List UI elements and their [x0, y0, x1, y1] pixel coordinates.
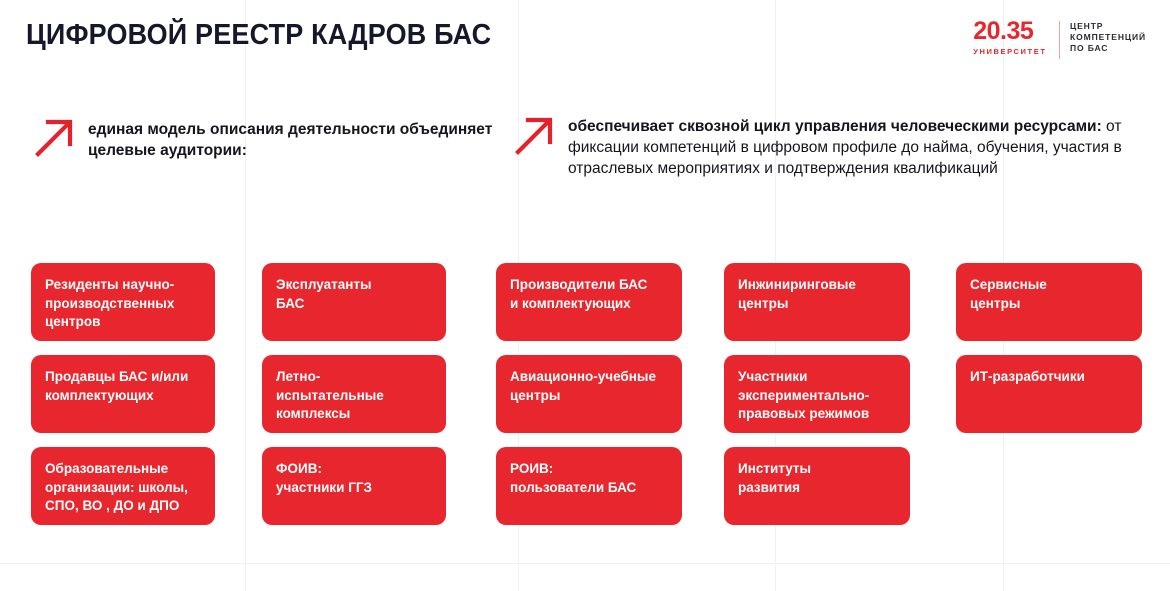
audience-card-grid: Резиденты научно- производственных центр… [0, 0, 1170, 591]
logo-center-line-2: КОМПЕТЕНЦИЙ [1070, 32, 1146, 43]
logo-university-label: УНИВЕРСИТЕТ [973, 47, 1046, 56]
arrow-up-right-icon [514, 112, 558, 156]
audience-card-development-institutes[interactable]: Институты развития [724, 447, 910, 525]
audience-card-residents-npc[interactable]: Резиденты научно- производственных центр… [31, 263, 215, 341]
audience-card-label: Производители БАС и комплектующих [510, 276, 668, 313]
audience-card-label: Институты развития [738, 460, 896, 497]
logo-center-line-1: ЦЕНТР [1070, 21, 1146, 32]
audience-card-label: Участники экспериментально- правовых реж… [738, 368, 896, 424]
intro-block-right: обеспечивает сквозной цикл управления че… [514, 110, 1154, 179]
audience-card-operators-bas[interactable]: Эксплуатанты БАС [262, 263, 446, 341]
brand-logo: 20.35 УНИВЕРСИТЕТ ЦЕНТР КОМПЕТЕНЦИЙ ПО Б… [973, 19, 1146, 59]
audience-card-label: Резиденты научно- производственных центр… [45, 276, 201, 332]
audience-card-flight-test-complex[interactable]: Летно- испытательные комплексы [262, 355, 446, 433]
audience-card-aviation-training[interactable]: Авиационно-учебные центры [496, 355, 682, 433]
grid-line-vertical [245, 0, 246, 591]
audience-card-label: Образовательные организации: школы, СПО,… [45, 460, 201, 516]
audience-card-label: Продавцы БАС и/или комплектующих [45, 368, 201, 405]
intro-left-text: единая модель описания деятельности объе… [88, 112, 494, 161]
audience-card-label: Сервисные центры [970, 276, 1128, 313]
audience-card-label: ИТ-разработчики [970, 368, 1128, 387]
audience-card-sellers-bas[interactable]: Продавцы БАС и/или комплектующих [31, 355, 215, 433]
audience-card-roiv-users-bas[interactable]: РОИВ: пользователи БАС [496, 447, 682, 525]
audience-card-label: Авиационно-учебные центры [510, 368, 668, 405]
audience-card-educational-orgs[interactable]: Образовательные организации: школы, СПО,… [31, 447, 215, 525]
intro-block-left: единая модель описания деятельности объе… [34, 112, 494, 161]
logo-number: 20.35 [973, 19, 1046, 44]
audience-card-engineering-centers[interactable]: Инжиниринговые центры [724, 263, 910, 341]
logo-university-block: 20.35 УНИВЕРСИТЕТ [973, 19, 1048, 56]
intro-right-lead: обеспечивает сквозной цикл управления че… [568, 118, 1102, 135]
audience-card-service-centers[interactable]: Сервисные центры [956, 263, 1142, 341]
logo-center-line-3: ПО БАС [1070, 43, 1146, 54]
arrow-up-right-icon [34, 114, 78, 158]
slide-header: ЦИФРОВОЙ РЕЕСТР КАДРОВ БАС 20.35 УНИВЕРС… [0, 0, 1170, 80]
audience-card-epr-participants[interactable]: Участники экспериментально- правовых реж… [724, 355, 910, 433]
intro-right-text: обеспечивает сквозной цикл управления че… [568, 110, 1154, 179]
audience-card-it-developers[interactable]: ИТ-разработчики [956, 355, 1142, 433]
audience-card-label: РОИВ: пользователи БАС [510, 460, 668, 497]
audience-card-label: Эксплуатанты БАС [276, 276, 432, 313]
logo-center-block: ЦЕНТР КОМПЕТЕНЦИЙ ПО БАС [1070, 19, 1146, 54]
audience-card-label: ФОИВ: участники ГГЗ [276, 460, 432, 497]
audience-card-label: Летно- испытательные комплексы [276, 368, 432, 424]
audience-card-foiv-ggz[interactable]: ФОИВ: участники ГГЗ [262, 447, 446, 525]
page-title: ЦИФРОВОЙ РЕЕСТР КАДРОВ БАС [26, 18, 491, 52]
logo-divider [1059, 21, 1061, 59]
grid-line-horizontal [0, 563, 1170, 564]
audience-card-label: Инжиниринговые центры [738, 276, 896, 313]
audience-card-manufacturers-bas[interactable]: Производители БАС и комплектующих [496, 263, 682, 341]
